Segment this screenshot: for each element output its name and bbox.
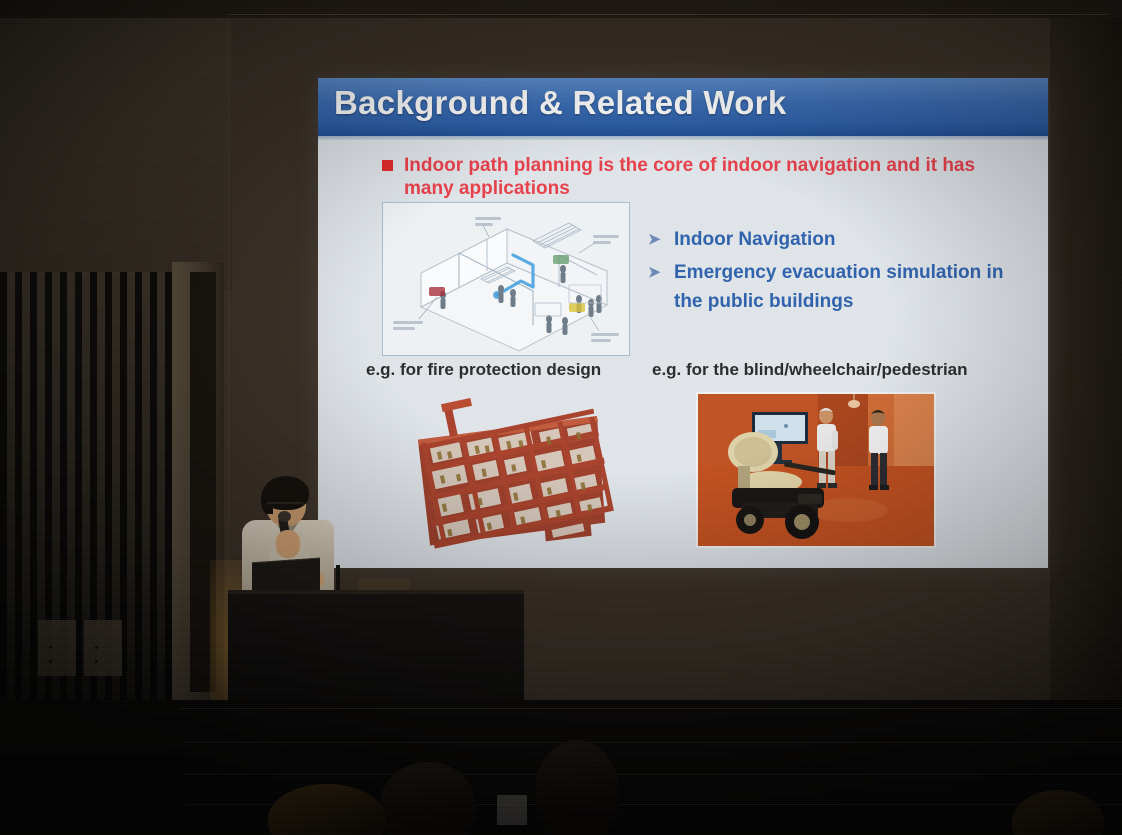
- robotic-wheelchair-photo: [696, 392, 936, 548]
- seat-back-highlight: [497, 795, 527, 825]
- main-bullet: Indoor path planning is the core of indo…: [360, 154, 1020, 200]
- list-item: ➤ Emergency evacuation simulation in the…: [648, 263, 1033, 311]
- caption-right: e.g. for the blind/wheelchair/pedestrian: [652, 360, 968, 380]
- arrow-bullet-icon: ➤: [648, 232, 661, 247]
- wall-plate-right: [84, 620, 122, 676]
- upper-left-wall: [0, 0, 232, 290]
- wheelchair-photo-svg: [698, 394, 934, 546]
- wall-plate-left: [38, 620, 76, 676]
- list-item-label: Emergency evacuation simulation in: [674, 262, 1003, 283]
- iso-diagram-svg: [383, 203, 629, 355]
- blue-bullet-list: ➤ Indoor Navigation ➤ Emergency evacuati…: [648, 230, 1033, 325]
- list-item-label-line2: the public buildings: [674, 292, 1033, 311]
- arrow-bullet-icon: ➤: [648, 265, 661, 280]
- presenter-hand: [276, 530, 300, 558]
- three-d-floorplan-model: [394, 390, 640, 566]
- list-item-label: Indoor Navigation: [674, 229, 836, 250]
- square-bullet-icon: [382, 160, 393, 171]
- slatted-wall-shadow: [0, 272, 172, 772]
- microphone-head: [278, 511, 291, 522]
- page-title: Background & Related Work: [334, 84, 786, 122]
- floorplan-svg: [394, 390, 640, 566]
- presentation-photo-scene: Background & Related Work Indoor path pl…: [0, 0, 1122, 835]
- audience-head: [535, 740, 619, 835]
- main-bullet-text: Indoor path planning is the core of indo…: [360, 154, 1020, 200]
- list-item: ➤ Indoor Navigation: [648, 230, 1033, 249]
- caption-left: e.g. for fire protection design: [366, 360, 601, 380]
- isometric-indoor-navigation-diagram: [382, 202, 630, 356]
- projected-slide: Background & Related Work Indoor path pl…: [318, 78, 1048, 568]
